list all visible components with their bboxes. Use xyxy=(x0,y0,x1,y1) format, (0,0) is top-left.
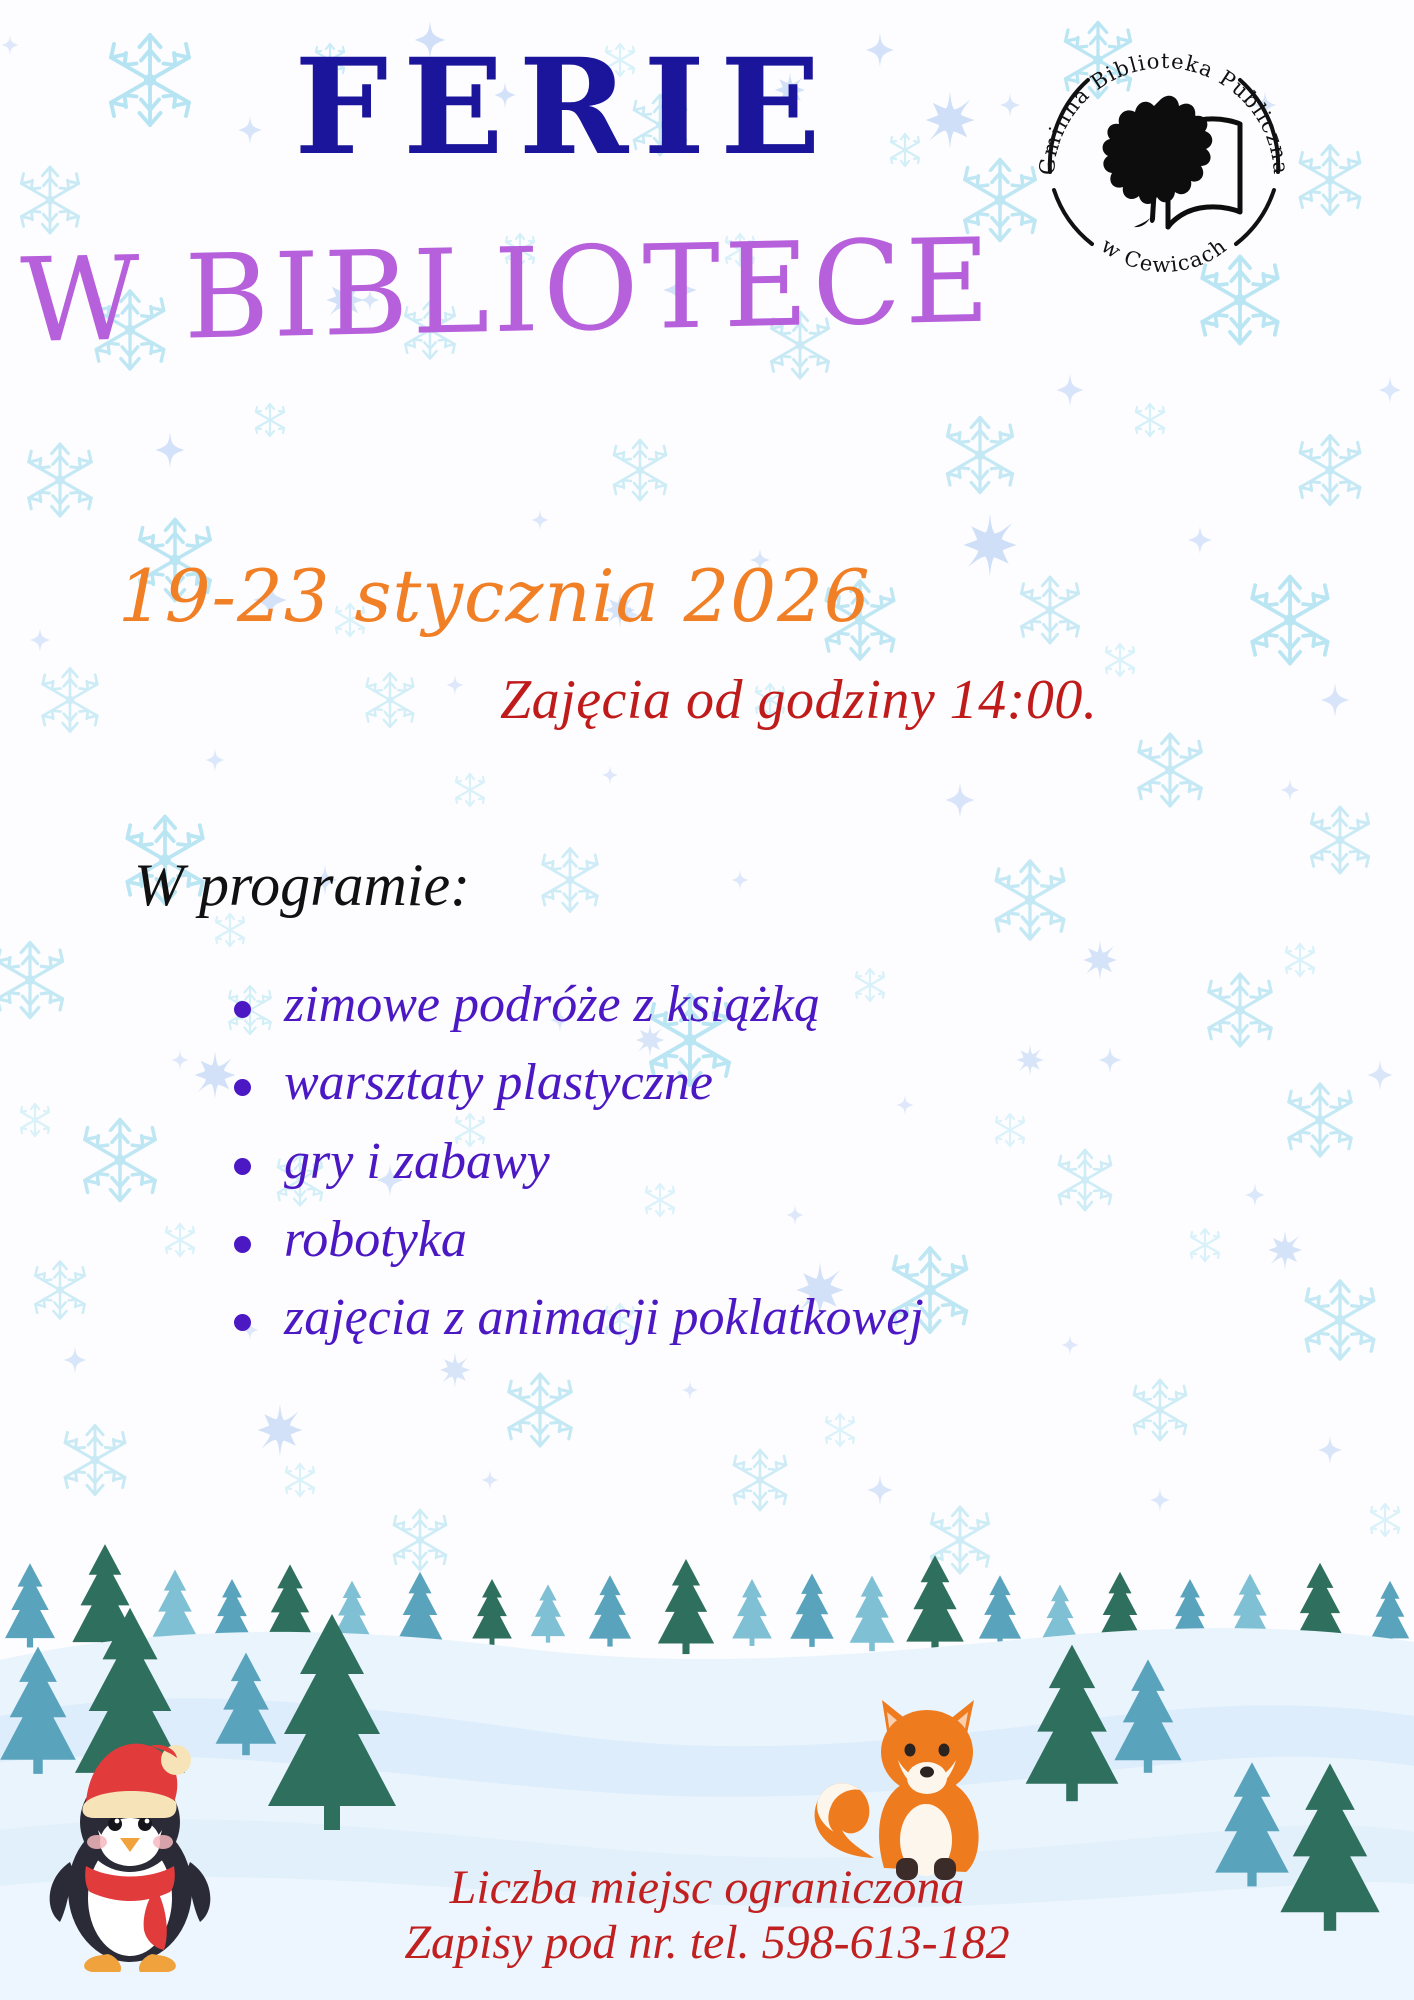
list-item-label: zajęcia z animacji poklatkowej xyxy=(284,1289,924,1346)
svg-text:w Cewicach: w Cewicach xyxy=(1097,233,1232,277)
program-heading: W programie: xyxy=(134,855,470,915)
list-item: gry i zabawy xyxy=(230,1132,1270,1192)
winter-holiday-poster: Gminna Biblioteka Publiczna w Cewicach F xyxy=(0,0,1414,2000)
list-item-label: robotyka xyxy=(284,1211,467,1268)
list-item: robotyka xyxy=(230,1210,1270,1270)
event-date: 19-23 stycznia 2026 xyxy=(118,560,871,632)
logo-arc-bottom-text: w Cewicach xyxy=(1097,233,1232,277)
bullet-icon xyxy=(234,1236,251,1253)
list-item-label: gry i zabawy xyxy=(284,1133,550,1190)
program-list: zimowe podróże z książką warsztaty plast… xyxy=(230,975,1270,1367)
bullet-icon xyxy=(234,1001,251,1018)
footer-phone-signup: Zapisy pod nr. tel. 598-613-182 xyxy=(0,1915,1414,1970)
list-item: warsztaty plastyczne xyxy=(230,1053,1270,1113)
poster-title-line-2: W BIBLIOTECE xyxy=(20,226,880,360)
list-item: zajęcia z animacji poklatkowej xyxy=(230,1288,1270,1348)
event-start-time-note: Zajęcia od godziny 14:00. xyxy=(500,672,1097,728)
poster-title-line-1: FERIE xyxy=(0,42,1130,174)
list-item-label: zimowe podróże z książką xyxy=(284,976,820,1033)
bullet-icon xyxy=(234,1158,251,1175)
bullet-icon xyxy=(234,1079,251,1096)
bullet-icon xyxy=(234,1314,251,1331)
list-item: zimowe podróże z książką xyxy=(230,975,1270,1035)
list-item-label: warsztaty plastyczne xyxy=(284,1054,713,1111)
footer-limited-places: Liczba miejsc ograniczona xyxy=(0,1860,1414,1915)
